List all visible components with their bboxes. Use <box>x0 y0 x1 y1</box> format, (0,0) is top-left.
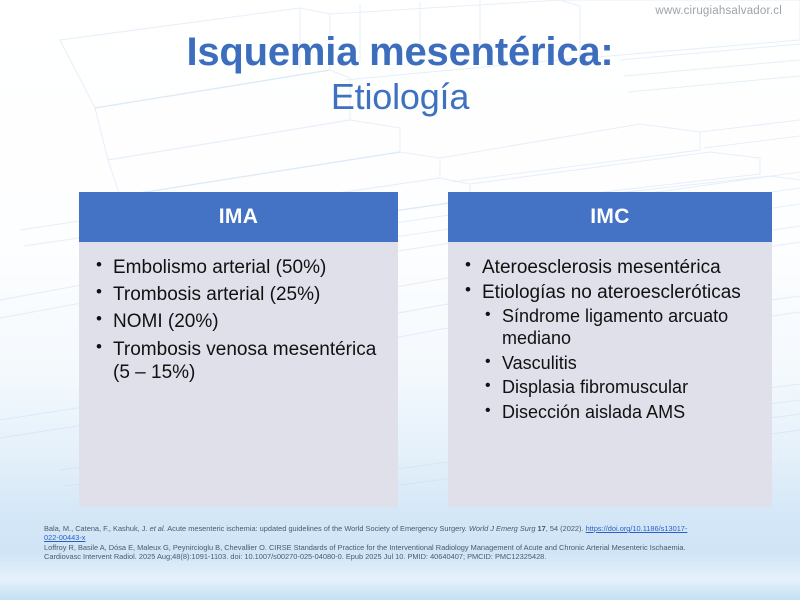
ref1-pages-year: , 54 (2022). <box>546 524 586 533</box>
imc-item-1-label: Etiologías no ateroescleróticas <box>482 282 741 303</box>
slide-canvas: www.cirugiahsalvador.cl Isquemia mesenté… <box>0 0 800 600</box>
table-ima: IMA Embolismo arterial (50%) Trombosis a… <box>79 192 398 507</box>
ima-item-1-label: Trombosis arterial (25%) <box>113 284 320 305</box>
imc-sub-bullet-list: Síndrome ligamento arcuato mediano Vascu… <box>482 306 762 423</box>
imc-sub-item-0-label: Síndrome ligamento arcuato mediano <box>502 306 728 348</box>
sub-list-item: Síndrome ligamento arcuato mediano <box>482 306 762 349</box>
ref1-journal: World J Emerg Surg <box>469 524 536 533</box>
list-item: Trombosis arterial (25%) <box>93 283 388 306</box>
sub-list-item: Disección aislada AMS <box>482 402 762 424</box>
ref1-article-title: Acute mesenteric ischemia: updated guide… <box>166 524 469 533</box>
reference-2-line-1: Loffroy R, Basile A, Dósa E, Maleux G, P… <box>44 543 784 552</box>
sub-list-item: Displasia fibromuscular <box>482 377 762 399</box>
ref1-volume: 17 <box>535 524 545 533</box>
imc-sub-item-2-label: Displasia fibromuscular <box>502 377 688 397</box>
page-title: Isquemia mesentérica: Etiología <box>0 30 800 117</box>
table-imc-body: Ateroesclerosis mesentérica Etiologías n… <box>448 242 772 436</box>
ref1-authors: Bala, M., Catena, F., Kashuk, J. <box>44 524 150 533</box>
imc-bullet-list: Ateroesclerosis mesentérica Etiologías n… <box>462 256 762 423</box>
list-item: Trombosis venosa mesentérica (5 – 15%) <box>93 338 388 384</box>
list-item: Ateroesclerosis mesentérica <box>462 256 762 279</box>
ref1-etal: et al. <box>150 524 166 533</box>
title-line-2: Etiología <box>0 77 800 117</box>
list-item: Embolismo arterial (50%) <box>93 256 388 279</box>
title-line-1: Isquemia mesentérica: <box>0 30 800 75</box>
ima-bullet-list: Embolismo arterial (50%) Trombosis arter… <box>93 256 388 384</box>
reference-1-line-2: 022-00443-x <box>44 533 784 542</box>
bottom-gradient-band <box>0 578 800 600</box>
ref1-doi-link-continued[interactable]: 022-00443-x <box>44 533 86 542</box>
ima-item-3-label: Trombosis venosa mesentérica (5 – 15%) <box>113 339 376 383</box>
imc-sub-item-3-label: Disección aislada AMS <box>502 402 685 422</box>
table-ima-body: Embolismo arterial (50%) Trombosis arter… <box>79 242 398 398</box>
imc-item-0-label: Ateroesclerosis mesentérica <box>482 257 721 278</box>
ima-item-0-label: Embolismo arterial (50%) <box>113 257 326 278</box>
references-block: Bala, M., Catena, F., Kashuk, J. et al. … <box>44 524 784 562</box>
table-ima-header: IMA <box>79 192 398 242</box>
sub-list-item: Vasculitis <box>482 353 762 375</box>
table-imc: IMC Ateroesclerosis mesentérica Etiologí… <box>448 192 772 507</box>
list-item: NOMI (20%) <box>93 310 388 333</box>
site-url-watermark: www.cirugiahsalvador.cl <box>655 5 782 17</box>
ima-item-2-label: NOMI (20%) <box>113 311 219 332</box>
list-item: Etiologías no ateroescleróticas Síndrome… <box>462 281 762 423</box>
reference-1-line-1: Bala, M., Catena, F., Kashuk, J. et al. … <box>44 524 784 533</box>
reference-2-line-2: Cardiovasc Intervent Radiol. 2025 Aug;48… <box>44 552 784 561</box>
table-imc-header: IMC <box>448 192 772 242</box>
imc-sub-item-1-label: Vasculitis <box>502 353 577 373</box>
ref1-doi-link[interactable]: https://doi.org/10.1186/s13017- <box>586 524 688 533</box>
